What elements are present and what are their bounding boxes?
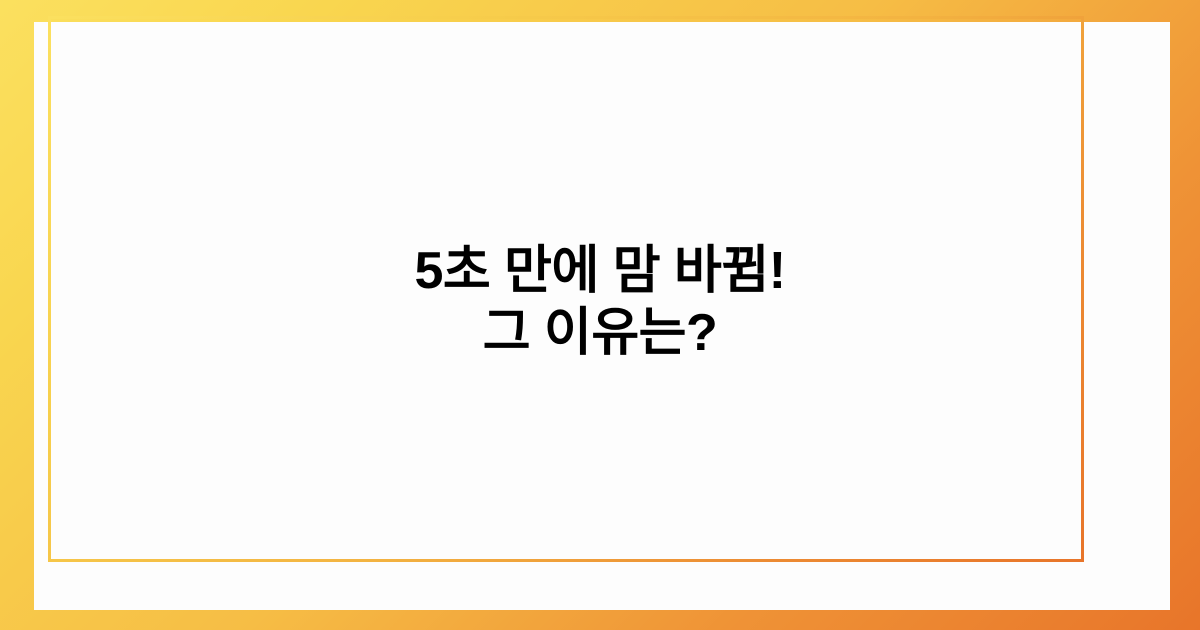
plant-pot-ribs xyxy=(110,508,222,610)
tv-movie-meta: 88% 17+ 2 hr 29 min Drama 2014 HD CC xyxy=(523,207,674,214)
wall-art-stripe xyxy=(47,209,117,218)
console-top-surface xyxy=(370,394,930,409)
wall-art-caption xyxy=(43,219,103,226)
thumbnail-canvas: GONE GIRL 88% 17+ 2 hr 29 min Drama 2014… xyxy=(0,0,1200,630)
console-cable xyxy=(574,486,724,509)
wall-art-stripe xyxy=(47,189,117,198)
wall-art-stripes xyxy=(47,22,117,169)
console-door-left[interactable] xyxy=(374,412,560,522)
headline-line-2: 그 이유는? xyxy=(0,302,1200,364)
tower-speaker xyxy=(928,454,974,582)
tv-hero-head xyxy=(763,173,821,239)
rattan-basket xyxy=(1086,492,1170,610)
wall-art-stripe xyxy=(47,119,117,128)
remote-control xyxy=(614,454,626,463)
console-open-niche xyxy=(566,412,738,520)
wall-art-signature xyxy=(69,177,109,184)
wall-art-stripe xyxy=(47,59,117,68)
wall-art-stripe xyxy=(47,22,117,28)
set-top-box xyxy=(588,448,608,463)
headline-line-1: 5초 만에 맘 바뀜! xyxy=(0,240,1200,302)
wall-art-stripe xyxy=(47,99,117,108)
tv-starring-label: STARRING xyxy=(457,233,489,239)
wall-art-stripe xyxy=(47,49,117,58)
wall-art-stripe xyxy=(47,149,117,158)
console-shelf xyxy=(566,464,738,471)
wall-art-stripe xyxy=(47,69,117,78)
tv-movie-title: GONE GIRL xyxy=(521,173,713,196)
wall-art-stripe xyxy=(47,29,117,38)
wall-art-stripe xyxy=(47,79,117,88)
tv-director-label: DIRECTOR xyxy=(457,206,490,212)
headline: 5초 만에 맘 바뀜! 그 이유는? xyxy=(0,240,1200,364)
media-console xyxy=(370,394,930,554)
console-handle xyxy=(390,526,870,531)
wall-art-stripe xyxy=(47,89,117,98)
basket-weave xyxy=(1092,496,1170,554)
wall-art-stripe xyxy=(47,39,117,48)
wall-art-stripe xyxy=(47,159,117,168)
wall-art-stripe xyxy=(47,109,117,118)
media-player xyxy=(633,452,720,464)
wall-art-frame xyxy=(38,22,126,250)
tv-director-name: David Fincher xyxy=(457,215,491,221)
wall-art-stripe xyxy=(47,139,117,148)
wall-art-stripe xyxy=(47,199,117,208)
wall-art-stripe xyxy=(47,129,117,138)
plant-pot xyxy=(110,508,222,610)
